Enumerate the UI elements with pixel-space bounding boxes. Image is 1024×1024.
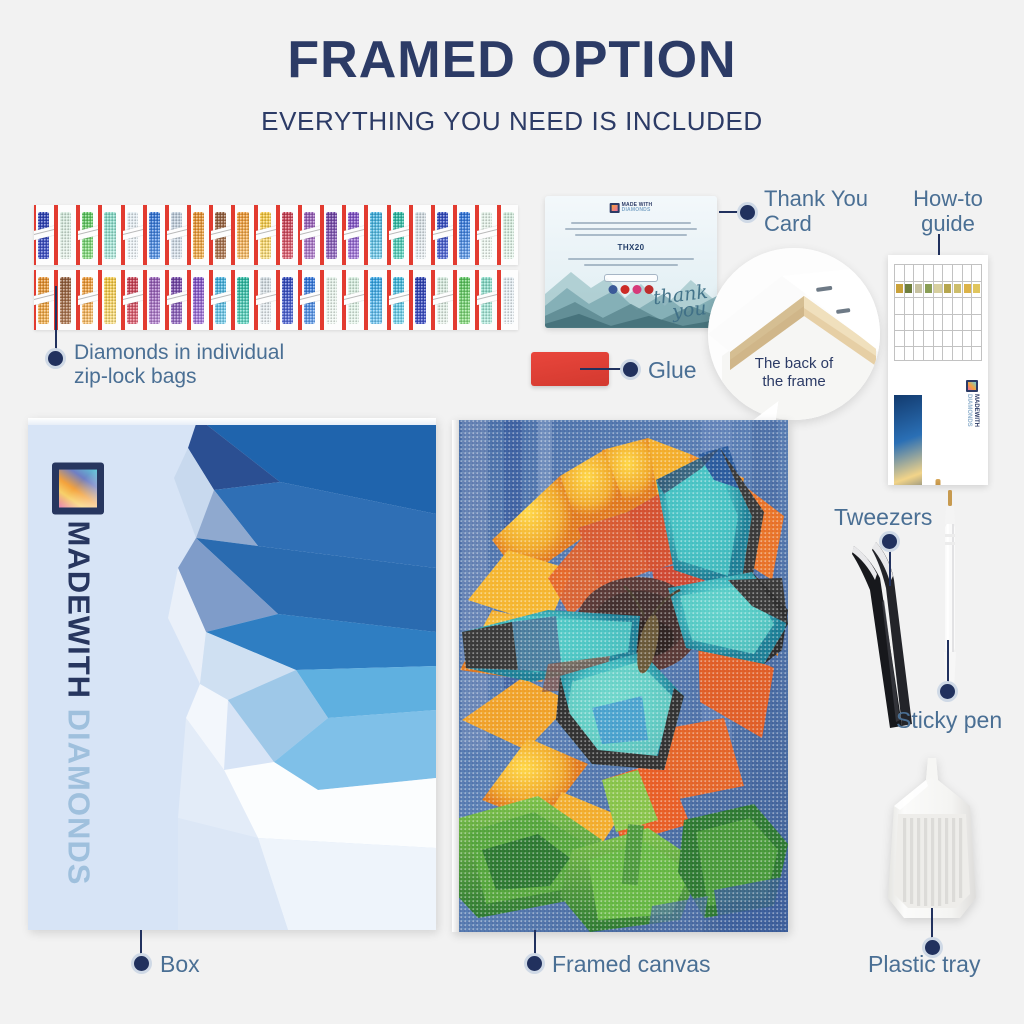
color-code-table	[894, 264, 982, 360]
callout-label-how-to-guide: How-to guide	[893, 186, 1003, 236]
zip-seal	[233, 270, 235, 330]
zip-lock-bag	[477, 205, 499, 265]
callout-label-thank-you-card: Thank You Card	[764, 186, 914, 236]
table-row	[894, 346, 982, 347]
zip-lock-bag	[411, 205, 433, 265]
connector-plastic-tray	[931, 908, 933, 944]
box-brand-text: MADEWITH DIAMONDS	[62, 521, 95, 886]
callout-label-framed-canvas: Framed canvas	[552, 951, 711, 977]
guide-roll-pin	[936, 479, 941, 485]
card-brand-logo: MADE WITH DIAMONDS	[610, 203, 653, 214]
table-row	[894, 330, 982, 331]
zip-lock-bag	[455, 205, 477, 265]
callout-label-tweezers: Tweezers	[834, 504, 932, 530]
how-to-guide: MADEWITH DIAMONDS	[888, 255, 988, 485]
diamond-beads	[370, 277, 381, 324]
zip-lock-bag	[34, 205, 56, 265]
zip-lock-bag	[300, 205, 322, 265]
zip-lock-bag	[233, 205, 255, 265]
table-row	[894, 360, 982, 361]
zip-lock-bag	[278, 205, 300, 265]
connector-tweezers	[889, 548, 891, 586]
tweezers	[850, 530, 922, 730]
diamond-beads	[326, 212, 337, 259]
canvas-left-edge	[452, 420, 459, 932]
card-text-line	[568, 258, 694, 260]
zip-lock-bag	[433, 270, 455, 330]
diamond-sparkle-texture	[452, 420, 788, 932]
frame-back-callout: The back of the frame	[708, 248, 880, 420]
diamond-beads	[459, 212, 470, 259]
table-row	[894, 314, 982, 315]
youtube-icon	[621, 285, 630, 294]
diamond-beads	[326, 277, 337, 324]
page-subtitle: EVERYTHING YOU NEED IS INCLUDED	[0, 108, 1024, 134]
zip-lock-bag	[233, 270, 255, 330]
card-social-icons	[609, 285, 654, 294]
diamond-beads	[415, 212, 426, 259]
zip-seal	[189, 270, 191, 330]
connector-sticky-pen	[947, 640, 949, 688]
frame-corner-photo	[708, 248, 880, 420]
box-brand-lockup: MADEWITH DIAMONDS	[52, 463, 104, 886]
zip-lock-bag	[123, 270, 145, 330]
diamond-logo-icon	[966, 380, 978, 392]
zip-lock-bag	[167, 205, 189, 265]
diamond-logo-icon	[610, 203, 620, 213]
diamond-beads	[459, 277, 470, 324]
color-swatch	[925, 284, 932, 293]
instagram-icon	[633, 285, 642, 294]
zip-lock-bag	[189, 205, 211, 265]
card-text-line	[584, 264, 678, 266]
zip-seal	[278, 270, 280, 330]
zip-lock-bag	[344, 270, 366, 330]
zip-lock-bag	[123, 205, 145, 265]
connector-glue	[580, 368, 627, 370]
zip-lock-bag	[100, 205, 122, 265]
diamond-beads	[282, 277, 293, 324]
zip-lock-bag	[389, 205, 411, 265]
table-row	[894, 281, 982, 282]
zip-seal	[278, 205, 280, 265]
zip-lock-bag	[211, 205, 233, 265]
framed-canvas	[452, 420, 788, 932]
zip-lock-bag	[56, 205, 78, 265]
callout-dot-sticky-pen	[940, 684, 955, 699]
diamond-beads	[104, 212, 115, 259]
guide-brand-text: MADEWITH DIAMONDS	[966, 394, 979, 427]
card-brand-text: MADE WITH DIAMONDS	[622, 203, 653, 214]
diamond-beads	[370, 212, 381, 259]
card-text-line	[565, 228, 697, 230]
zip-seal	[233, 205, 235, 265]
callout-label-box: Box	[160, 951, 200, 977]
zip-lock-bag	[34, 270, 56, 330]
callout-label-diamonds: Diamonds in individual zip-lock bags	[74, 341, 364, 389]
zip-seal	[322, 270, 324, 330]
zip-lock-bag	[344, 205, 366, 265]
zip-lock-bag	[499, 270, 518, 330]
guide-brand-logo: MADEWITH DIAMONDS	[966, 380, 979, 427]
color-swatch	[934, 284, 941, 293]
callout-label-plastic-tray: Plastic tray	[868, 951, 980, 977]
color-swatch	[964, 284, 971, 293]
diamond-beads	[415, 277, 426, 324]
zip-seal	[499, 205, 501, 265]
zip-lock-bag	[389, 270, 411, 330]
zip-lock-bag	[100, 270, 122, 330]
diamond-beads	[503, 277, 514, 324]
zip-lock-bag	[300, 270, 322, 330]
zip-lock-bag	[211, 270, 233, 330]
zip-lock-bag-row-bottom	[34, 270, 518, 330]
zip-seal	[100, 205, 102, 265]
thank-you-script: thank you	[652, 285, 710, 323]
table-row	[894, 297, 982, 298]
zip-lock-bag	[433, 205, 455, 265]
plastic-tray-shape	[876, 758, 988, 930]
zip-lock-bag	[477, 270, 499, 330]
zip-lock-bag	[189, 270, 211, 330]
zip-lock-bag	[322, 205, 344, 265]
diamond-logo-icon	[52, 463, 104, 515]
zip-seal	[56, 205, 58, 265]
color-swatch	[896, 284, 903, 293]
diamond-beads	[193, 212, 204, 259]
callout-dot-tweezers	[882, 534, 897, 549]
zip-seal	[100, 270, 102, 330]
card-url-pill	[604, 274, 658, 282]
callout-dot-diamonds	[48, 351, 63, 366]
callout-label-glue: Glue	[648, 357, 697, 383]
diamond-beads	[237, 277, 248, 324]
zip-lock-bag-row-top	[34, 205, 518, 265]
zip-seal	[411, 270, 413, 330]
zip-seal	[322, 205, 324, 265]
zip-lock-bag	[167, 270, 189, 330]
sticky-pen-shape	[940, 490, 962, 700]
callout-dot-framed-canvas	[527, 956, 542, 971]
frame-back-bubble: The back of the frame	[708, 248, 880, 420]
frame-back-caption: The back of the frame	[708, 355, 880, 390]
zip-lock-bag	[499, 205, 518, 265]
zip-lock-bag	[366, 270, 388, 330]
color-swatch	[915, 284, 922, 293]
zip-seal	[499, 270, 501, 330]
table-row	[894, 264, 982, 265]
diamond-beads	[193, 277, 204, 324]
zip-seal	[366, 205, 368, 265]
card-text-line	[575, 234, 687, 236]
connector-diamonds	[55, 286, 57, 352]
zip-seal	[145, 270, 147, 330]
zip-lock-bag	[78, 205, 100, 265]
zip-lock-bag	[145, 205, 167, 265]
zip-lock-bag	[411, 270, 433, 330]
zip-seal	[366, 270, 368, 330]
zip-seal	[145, 205, 147, 265]
callout-dot-thank-you-card	[740, 205, 755, 220]
zip-lock-bag	[56, 270, 78, 330]
page-title: FRAMED OPTION	[0, 34, 1024, 86]
promo-code: THX20	[618, 243, 645, 252]
product-box: MADEWITH DIAMONDS	[28, 418, 436, 930]
diamond-beads	[282, 212, 293, 259]
zip-seal	[411, 205, 413, 265]
color-swatch	[944, 284, 951, 293]
color-swatch	[954, 284, 961, 293]
zip-lock-bag	[256, 270, 278, 330]
color-swatch	[905, 284, 912, 293]
zip-lock-bag	[145, 270, 167, 330]
plastic-tray	[876, 758, 988, 930]
zip-lock-bag	[322, 270, 344, 330]
diamond-beads	[149, 277, 160, 324]
guide-artwork-thumbnail	[894, 395, 922, 485]
color-swatch	[973, 284, 980, 293]
sticky-pen	[940, 490, 962, 700]
tweezers-shape	[850, 530, 922, 730]
box-top-edge	[28, 418, 436, 425]
thank-you-card: MADE WITH DIAMONDS THX20 thank you	[545, 196, 717, 328]
zip-lock-bag	[366, 205, 388, 265]
card-text-line	[571, 222, 691, 224]
zip-seal	[455, 205, 457, 265]
zip-lock-bag	[256, 205, 278, 265]
callout-dot-box	[134, 956, 149, 971]
diamond-beads	[104, 277, 115, 324]
diamond-beads	[60, 277, 71, 324]
zip-seal	[455, 270, 457, 330]
callout-dot-glue	[623, 362, 638, 377]
zip-lock-bag	[278, 270, 300, 330]
zip-lock-bag	[78, 270, 100, 330]
diamond-beads	[60, 212, 71, 259]
zip-seal	[189, 205, 191, 265]
diamond-beads	[503, 212, 514, 259]
callout-label-sticky-pen: Sticky pen	[896, 707, 1002, 733]
diamond-beads	[149, 212, 160, 259]
zip-lock-bag	[455, 270, 477, 330]
infographic-root: FRAMED OPTION EVERYTHING YOU NEED IS INC…	[0, 0, 1024, 1024]
facebook-icon	[609, 285, 618, 294]
diamond-beads	[237, 212, 248, 259]
